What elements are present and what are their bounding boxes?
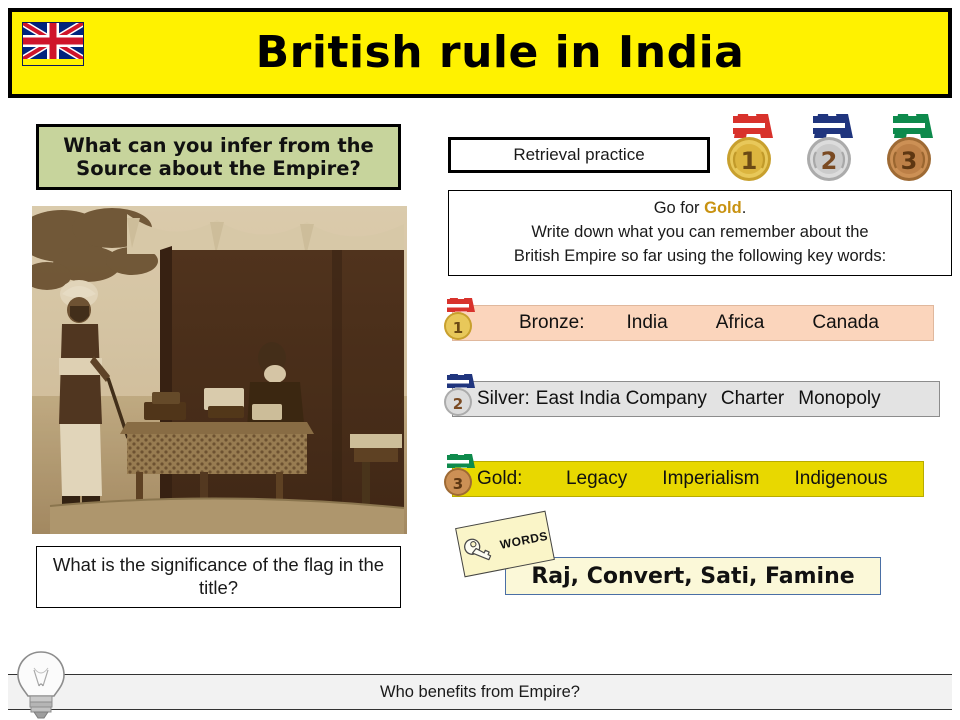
gold-medal-icon-small: 1 [436, 296, 480, 344]
keyword-bar-gold: Gold: Legacy Imperialism Indigenous [452, 461, 924, 497]
keyword-silver-1: East India Company [536, 388, 707, 410]
retrieval-practice-label: Retrieval practice [448, 137, 710, 173]
instructions-line-3: British Empire so far using the followin… [514, 245, 886, 269]
svg-text:2: 2 [453, 395, 463, 413]
instructions-box: Go for Gold. Write down what you can rem… [448, 190, 952, 276]
keyword-gold-1: Legacy [566, 468, 627, 490]
svg-text:2: 2 [821, 147, 838, 175]
bronze-medal-icon: 3 [876, 112, 942, 184]
keyword-bar-bronze-label: Bronze: [519, 312, 584, 334]
keyword-silver-2: Charter [721, 388, 784, 410]
gold-highlight: Gold [704, 199, 742, 217]
svg-text:1: 1 [741, 147, 758, 175]
instructions-suffix: . [742, 199, 747, 217]
silver-medal-icon-small: 2 [436, 372, 480, 420]
union-jack-flag-icon [22, 22, 84, 66]
lightbulb-icon [8, 648, 74, 720]
source-photograph [32, 206, 407, 534]
gold-medal-icon: 1 [716, 112, 782, 184]
instructions-line-1: Go for Gold. [654, 197, 747, 221]
keyword-bar-silver-label: Silver: [477, 388, 530, 410]
footer-question: Who benefits from Empire? [380, 683, 580, 702]
keyword-gold-3: Indigenous [794, 468, 887, 490]
keyword-bronze-1: India [627, 312, 668, 334]
keyword-bar-gold-label: Gold: [477, 468, 522, 490]
keyword-silver-3: Monopoly [798, 388, 880, 410]
infer-question-box: What can you infer from the Source about… [36, 124, 401, 190]
keyword-bronze-3: Canada [812, 312, 879, 334]
svg-text:1: 1 [453, 319, 463, 337]
flag-significance-caption: What is the significance of the flag in … [36, 546, 401, 608]
key-words-value-box: Raj, Convert, Sati, Famine [505, 557, 881, 595]
bronze-medal-icon-small: 3 [436, 452, 480, 500]
keyword-bronze-2: Africa [716, 312, 765, 334]
key-words-tag-label: WORDS [499, 529, 549, 552]
instructions-prefix: Go for [654, 199, 704, 217]
footer-bar: Who benefits from Empire? [8, 674, 952, 710]
key-icon [462, 531, 501, 567]
slide-canvas: British rule in India What can you infer… [0, 0, 960, 720]
page-title: British rule in India [12, 31, 948, 75]
slide-title-bar: British rule in India [8, 8, 952, 98]
keyword-bar-silver: Silver: East India Company Charter Monop… [452, 381, 940, 417]
keyword-gold-2: Imperialism [662, 468, 759, 490]
svg-text:3: 3 [901, 147, 918, 175]
silver-medal-icon: 2 [796, 112, 862, 184]
svg-text:3: 3 [453, 475, 463, 493]
keyword-bar-bronze: Bronze: India Africa Canada [452, 305, 934, 341]
instructions-line-2: Write down what you can remember about t… [531, 221, 868, 245]
medal-row: 1 2 [716, 112, 952, 184]
